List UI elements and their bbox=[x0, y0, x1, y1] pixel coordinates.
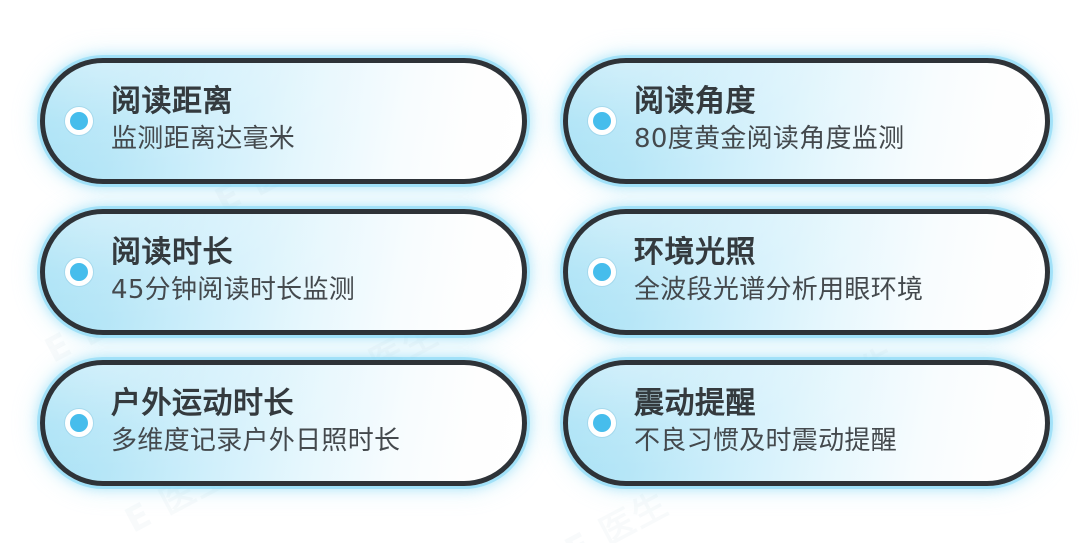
card-title: 震动提醒 bbox=[634, 387, 897, 422]
feature-card-outdoor-activity-duration[interactable]: 户外运动时长 多维度记录户外日照时长 bbox=[40, 360, 527, 486]
card-text-block: 阅读时长 45分钟阅读时长监测 bbox=[111, 236, 355, 309]
watermark-text: E 医生 bbox=[555, 477, 676, 543]
feature-card-reading-angle[interactable]: 阅读角度 80度黄金阅读角度监测 bbox=[563, 58, 1050, 184]
card-text-block: 阅读角度 80度黄金阅读角度监测 bbox=[634, 85, 904, 158]
bullet-icon bbox=[65, 107, 93, 135]
feature-card-reading-distance[interactable]: 阅读距离 监测距离达毫米 bbox=[40, 58, 527, 184]
card-text-block: 户外运动时长 多维度记录户外日照时长 bbox=[111, 387, 400, 460]
bullet-icon bbox=[588, 107, 616, 135]
bullet-icon bbox=[588, 258, 616, 286]
card-subtitle: 45分钟阅读时长监测 bbox=[111, 275, 355, 307]
card-title: 阅读角度 bbox=[634, 85, 904, 120]
card-subtitle: 监测距离达毫米 bbox=[111, 124, 295, 156]
card-text-block: 震动提醒 不良习惯及时震动提醒 bbox=[634, 387, 897, 460]
card-title: 户外运动时长 bbox=[111, 387, 400, 422]
feature-card-grid: 阅读距离 监测距离达毫米 阅读角度 80度黄金阅读角度监测 阅读时长 45分钟阅… bbox=[40, 58, 1050, 486]
card-text-block: 阅读距离 监测距离达毫米 bbox=[111, 85, 295, 158]
card-subtitle: 不良习惯及时震动提醒 bbox=[634, 426, 897, 458]
card-title: 阅读距离 bbox=[111, 85, 295, 120]
card-text-block: 环境光照 全波段光谱分析用眼环境 bbox=[634, 236, 923, 309]
card-subtitle: 多维度记录户外日照时长 bbox=[111, 426, 400, 458]
bullet-icon bbox=[588, 409, 616, 437]
feature-card-reading-duration[interactable]: 阅读时长 45分钟阅读时长监测 bbox=[40, 209, 527, 335]
feature-card-ambient-light[interactable]: 环境光照 全波段光谱分析用眼环境 bbox=[563, 209, 1050, 335]
card-subtitle: 全波段光谱分析用眼环境 bbox=[634, 275, 923, 307]
card-title: 阅读时长 bbox=[111, 236, 355, 271]
bullet-icon bbox=[65, 409, 93, 437]
feature-card-vibration-reminder[interactable]: 震动提醒 不良习惯及时震动提醒 bbox=[563, 360, 1050, 486]
card-title: 环境光照 bbox=[634, 236, 923, 271]
bullet-icon bbox=[65, 258, 93, 286]
card-subtitle: 80度黄金阅读角度监测 bbox=[634, 124, 904, 156]
